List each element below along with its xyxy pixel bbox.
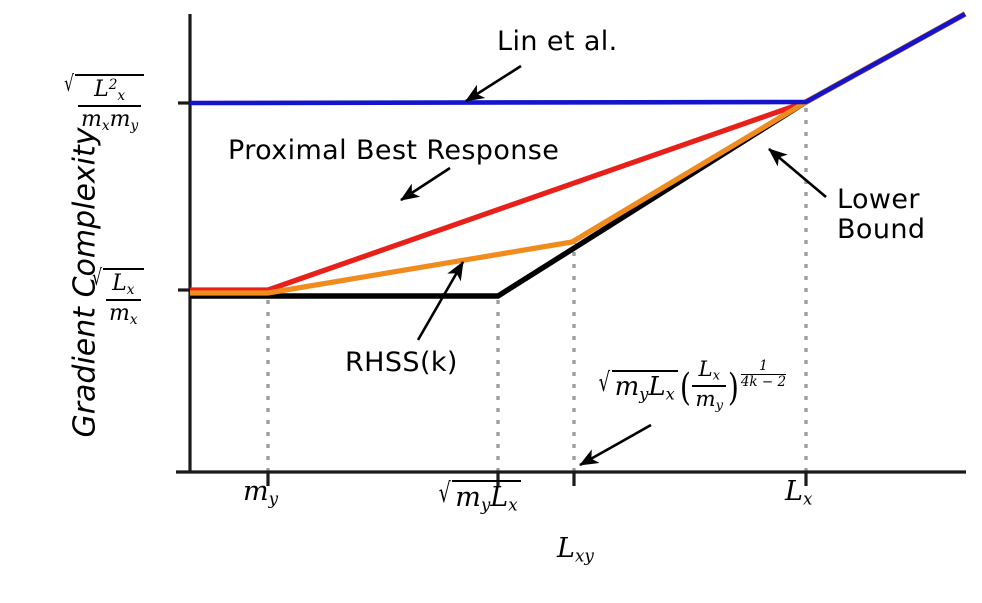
radical-sign-icon: √: [439, 480, 451, 513]
arrow-lin-et-al: [466, 66, 521, 101]
expr-exp-num: 1: [741, 359, 786, 373]
xlxy-L: L: [557, 533, 575, 564]
annotation-proximal-best-response: Proximal Best Response: [228, 135, 559, 166]
expr-L: L: [648, 372, 665, 402]
arrow-lxy-expression: [580, 425, 651, 465]
ytop-den-m2: m: [110, 107, 131, 132]
expr-frac-den-sub: y: [716, 399, 723, 414]
figure-root: Gradient Complexity √ L2x mxmy √ Lx mx: [0, 0, 982, 603]
xsq-L: L: [490, 482, 508, 513]
expr-frac-den-m: m: [695, 387, 715, 412]
x-tick-label-lxy: Lxy: [557, 535, 594, 564]
paren-open: (: [680, 369, 691, 407]
expr-m: m: [615, 372, 640, 402]
arrow-rhss: [418, 262, 463, 340]
lxy-expression-annotation: √ myLx ( Lx my ) 1 4k − 2: [596, 358, 786, 414]
radical-sign-icon: √: [64, 74, 74, 133]
annotation-lower-bound: Lower Bound: [837, 185, 925, 245]
annotation-rhss-k: RHSS(k): [345, 347, 458, 378]
ytop-den-m1: m: [81, 107, 102, 132]
expr-exp-den: 4k − 2: [741, 374, 786, 389]
annotation-lower-bound-line1: Lower: [837, 185, 925, 215]
ytop-den-m2-sub: y: [130, 117, 138, 133]
expr-L-sub: x: [666, 384, 675, 403]
radical-sign-icon: √: [92, 268, 102, 327]
expr-frac-num-L: L: [698, 357, 712, 382]
ybot-den-sub: x: [130, 311, 138, 327]
xmy-sub: y: [269, 489, 278, 509]
ytop-num-sub: x: [117, 88, 125, 104]
xsq-m-sub: y: [481, 495, 490, 515]
ytop-den-m1-sub: x: [102, 117, 110, 133]
radical-sign-icon: √: [598, 370, 610, 403]
xlxy-sub: xy: [575, 546, 594, 566]
arrow-pbr: [401, 168, 450, 200]
ybot-num-L: L: [112, 271, 127, 296]
xsq-m: m: [455, 482, 481, 513]
x-tick-label-sqrt-my-lx: √ myLx: [436, 480, 521, 513]
annotation-lower-bound-line2: Bound: [837, 215, 925, 245]
x-tick-label-lx: Lx: [785, 478, 812, 507]
expr-m-sub: y: [639, 384, 648, 403]
xlx-sub: x: [803, 489, 812, 509]
x-tick-label-my: my: [243, 478, 278, 507]
arrow-lower-bound: [769, 149, 826, 197]
ytop-num-L: L: [94, 77, 109, 102]
paren-close: ): [728, 369, 739, 407]
y-tick-label-top: √ L2x mxmy: [62, 74, 144, 133]
xlx-L: L: [785, 476, 803, 507]
annotation-lin-et-al: Lin et al.: [497, 26, 618, 57]
ybot-den-m: m: [109, 301, 130, 326]
xmy-m: m: [243, 476, 269, 507]
ybot-num-sub: x: [127, 282, 135, 298]
expr-frac-num-sub: x: [713, 369, 720, 384]
y-tick-label-bottom: √ Lx mx: [90, 268, 144, 327]
xsq-L-sub: x: [508, 495, 517, 515]
